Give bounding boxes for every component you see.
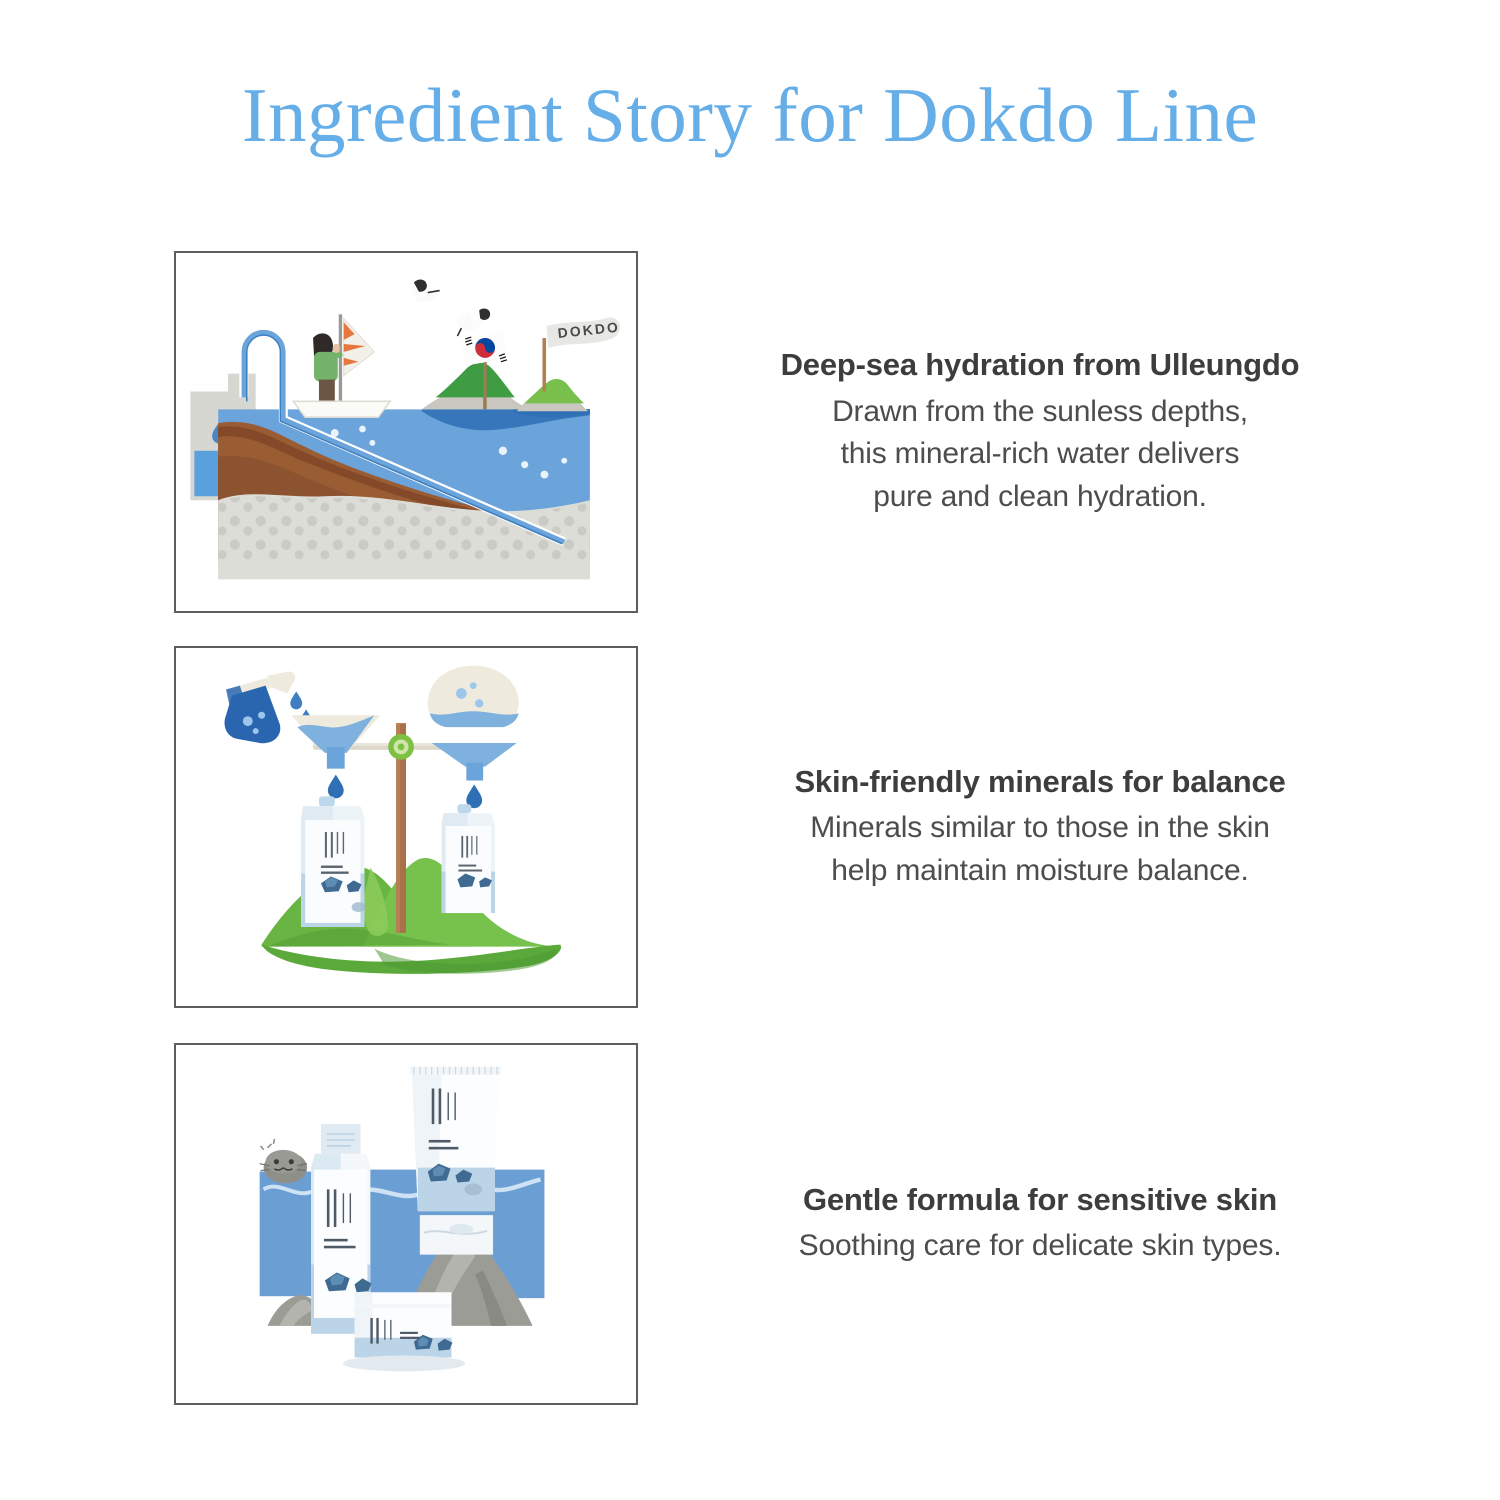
flask-icon <box>225 672 296 744</box>
dokdo-product-lineup-icon <box>176 1045 636 1403</box>
funnel-left-icon <box>291 715 380 798</box>
funnel-right-icon <box>428 666 519 808</box>
body-line: Drawn from the sunless depths, <box>832 391 1248 434</box>
dokdo-banner: DOKDO <box>546 318 620 348</box>
illustration-panel-products <box>174 1043 638 1405</box>
section-heading: Skin-friendly minerals for balance <box>794 762 1285 802</box>
section-heading: Gentle formula for sensitive skin <box>803 1180 1277 1220</box>
section-heading: Deep-sea hydration from Ulleungdo <box>781 345 1300 385</box>
copy-block-minerals: Skin-friendly minerals for balance Miner… <box>660 646 1420 1008</box>
mineral-balance-scale-icon <box>176 648 636 1006</box>
body-line: help maintain moisture balance. <box>810 850 1269 893</box>
body-line: this mineral-rich water delivers <box>832 433 1248 476</box>
illustration-panel-deep-sea: DOKDO <box>174 251 638 613</box>
page-title: Ingredient Story for Dokdo Line <box>0 72 1500 158</box>
section-skin-friendly-minerals: Skin-friendly minerals for balance Miner… <box>0 646 1500 1008</box>
section-gentle-formula: Gentle formula for sensitive skin Soothi… <box>0 1043 1500 1405</box>
korean-flag-icon <box>461 332 508 366</box>
section-body: Drawn from the sunless depths, this mine… <box>832 391 1248 519</box>
pivot-icon <box>388 734 414 760</box>
ingredient-story-page: Ingredient Story for Dokdo Line <box>0 0 1500 1500</box>
body-line: pure and clean hydration. <box>832 476 1248 519</box>
section-body: Minerals similar to those in the skin he… <box>810 807 1269 892</box>
product-bottle-right <box>442 804 495 913</box>
section-deep-sea-hydration: DOKDO Deep-sea hydration from Ulleungdo … <box>0 251 1500 613</box>
island-with-korean-flag <box>422 332 529 409</box>
island-with-dokdo-banner: DOKDO <box>517 318 621 412</box>
copy-block-gentle-formula: Gentle formula for sensitive skin Soothi… <box>660 1043 1420 1405</box>
product-pad-container <box>343 1292 466 1371</box>
illustration-panel-minerals <box>174 646 638 1008</box>
copy-block-deep-sea: Deep-sea hydration from Ulleungdo Drawn … <box>660 251 1420 613</box>
product-cleanser-tube <box>410 1067 501 1255</box>
product-bottle-left <box>301 796 365 927</box>
deep-sea-water-intake-cross-section-icon: DOKDO <box>176 253 636 611</box>
body-line: Minerals similar to those in the skin <box>810 807 1269 850</box>
body-line: Soothing care for delicate skin types. <box>799 1225 1282 1268</box>
seagull-icon <box>410 280 490 337</box>
section-body: Soothing care for delicate skin types. <box>799 1225 1282 1268</box>
boat-with-sailor-icon <box>293 314 390 417</box>
